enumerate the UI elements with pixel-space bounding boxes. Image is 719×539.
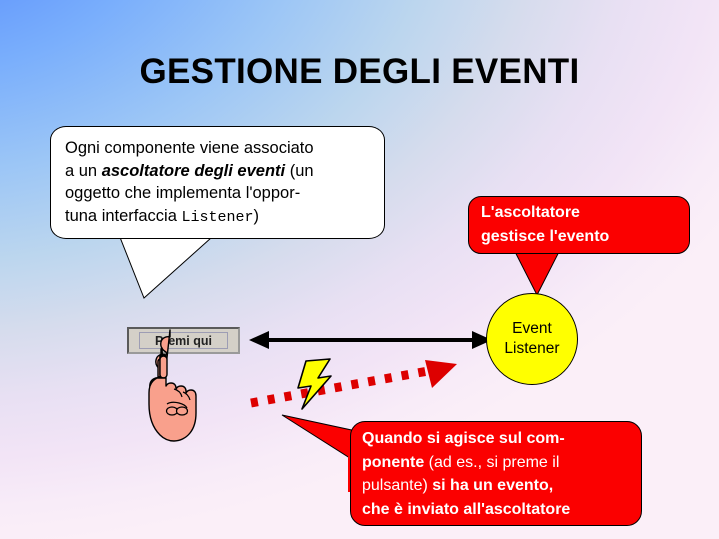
red-top-callout: L'ascoltatore gestisce l'evento <box>468 196 694 298</box>
event-listener-line-2: Listener <box>504 339 559 359</box>
page-title: GESTIONE DEGLI EVENTI <box>0 52 719 92</box>
slide-canvas: GESTIONE DEGLI EVENTI Ogni componente vi… <box>0 0 719 539</box>
white-speech-bubble: Ogni componente viene associato a un asc… <box>50 126 390 301</box>
red-top-line-2: gestisce l'evento <box>481 228 609 245</box>
red-bottom-callout: Quando si agisce sul com- ponente (ad es… <box>278 410 646 528</box>
red-top-line-1: L'ascoltatore <box>481 204 580 221</box>
white-bubble-emphasis: ascoltatore degli eventi <box>102 162 285 180</box>
premi-qui-button-focus-rect: Premi qui <box>139 332 228 349</box>
white-bubble-line-1: Ogni componente viene associato <box>65 139 314 157</box>
premi-qui-button-label: Premi qui <box>155 334 212 348</box>
white-bubble-listener-code: Listener <box>181 209 253 226</box>
red-bottom-line-1: Quando si agisce sul com- <box>362 430 565 447</box>
white-bubble-line-3: oggetto che implementa l'oppor- <box>65 184 300 202</box>
white-bubble-line-2-prefix: a un <box>65 162 102 180</box>
white-bubble-line-2-suffix: (un <box>285 162 313 180</box>
red-bottom-callout-text: Quando si agisce sul com- ponente (ad es… <box>362 427 642 521</box>
event-listener-line-1: Event <box>512 319 552 339</box>
red-bottom-line-4: che è inviato all'ascoltatore <box>362 501 570 518</box>
white-bubble-line-4-suffix: ) <box>254 207 260 225</box>
white-bubble-text: Ogni componente viene associato a un asc… <box>65 137 375 229</box>
red-bottom-line-3-normal: pulsante) <box>362 477 432 494</box>
premi-qui-button[interactable]: Premi qui <box>127 327 240 354</box>
red-top-callout-text: L'ascoltatore gestisce l'evento <box>481 201 681 249</box>
white-bubble-line-4-prefix: tuna interfaccia <box>65 207 181 225</box>
red-bottom-line-3-bold: si ha un evento, <box>432 477 553 494</box>
red-bottom-line-2-normal: (ad es., si preme il <box>424 454 559 471</box>
red-bottom-line-2-bold: ponente <box>362 454 424 471</box>
event-listener-circle[interactable]: Event Listener <box>486 293 578 385</box>
